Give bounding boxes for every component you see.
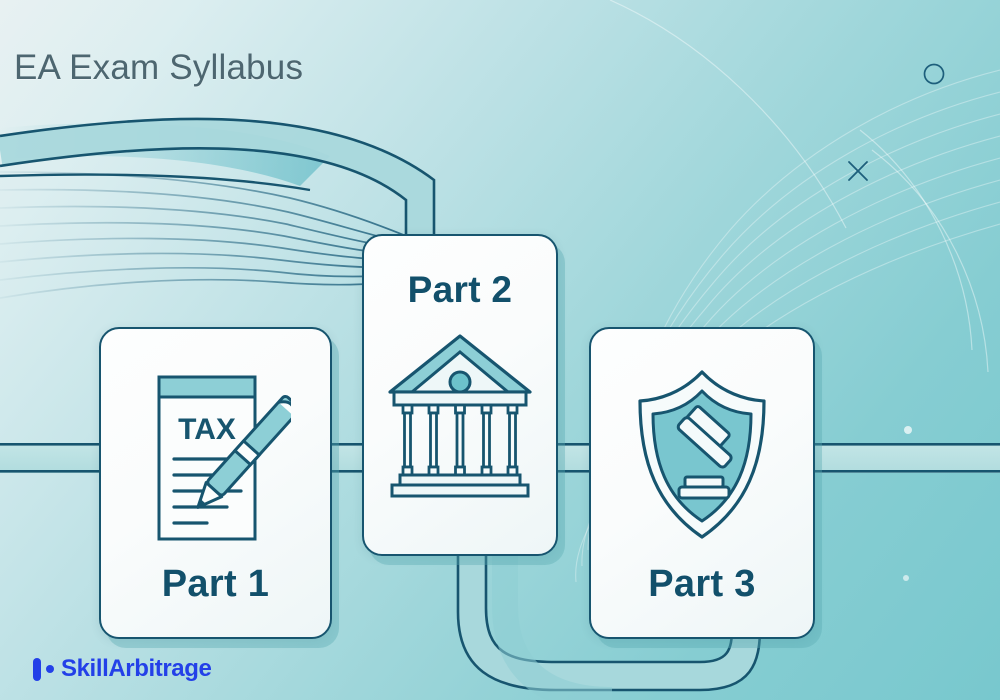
shield-with-gavel-icon [632, 367, 772, 542]
brand-logo[interactable]: SkillArbitrage [33, 655, 211, 683]
page-title: EA Exam Syllabus [14, 48, 303, 88]
card-part-2-label: Part 2 [408, 271, 513, 308]
card-part-3-label: Part 3 [648, 565, 755, 603]
logo-bar [33, 658, 41, 681]
tax-document-with-pen-icon: TAX [141, 369, 291, 554]
card-part-1[interactable]: TAX Part 1 [99, 327, 332, 639]
logo-dot [46, 665, 54, 673]
card-part-1-label: Part 1 [162, 565, 269, 603]
classical-bank-building-icon [384, 330, 536, 498]
bar-and-dot-logo-icon [33, 658, 54, 681]
card-part-2[interactable]: Part 2 [362, 234, 558, 556]
infographic-canvas: EA Exam Syllabus TAX [0, 0, 1000, 700]
brand-wordmark: SkillArbitrage [61, 655, 211, 683]
card-part-3[interactable]: Part 3 [589, 327, 815, 639]
tax-label: TAX [178, 413, 236, 446]
